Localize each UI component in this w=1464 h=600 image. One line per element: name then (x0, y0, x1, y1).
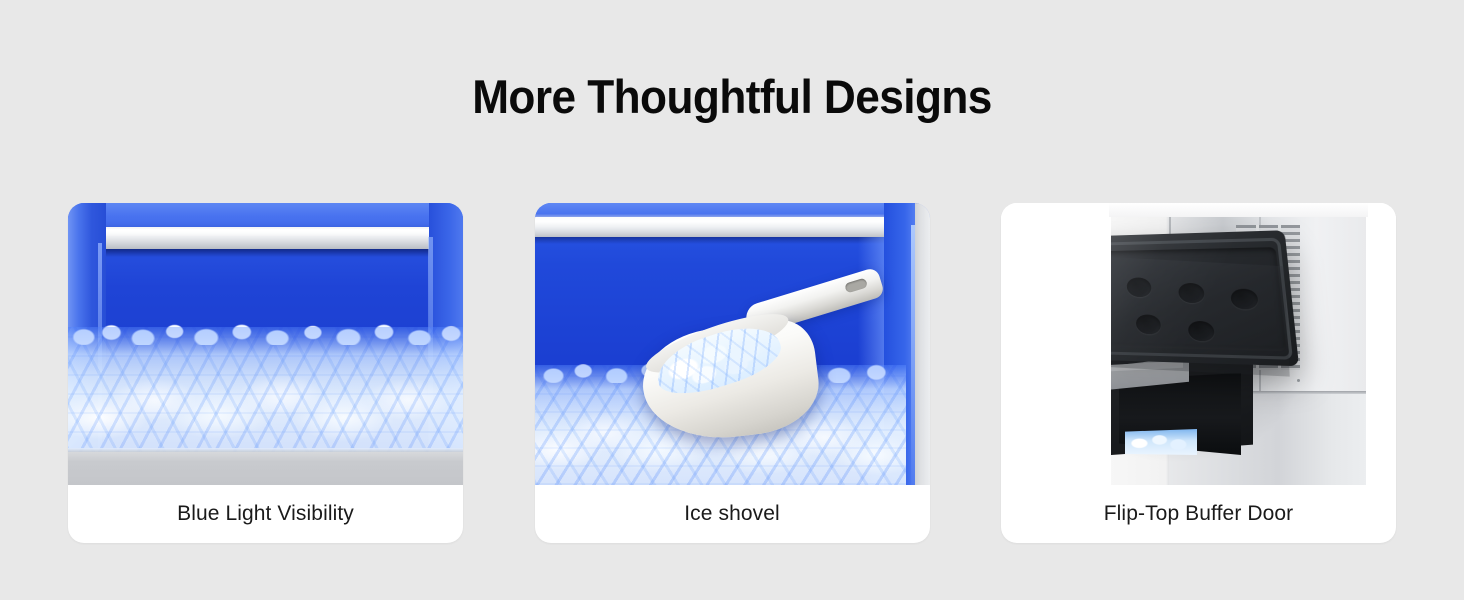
blue-light-visibility-image (68, 203, 463, 485)
ice-scoop-hanging-hole (844, 278, 868, 294)
ice-cube-facets (68, 327, 463, 452)
led-light-bar-shadow (535, 237, 898, 244)
feature-card-flip-top-buffer-door[interactable]: Flip-Top Buffer Door (1001, 203, 1396, 543)
feature-card-caption: Flip-Top Buffer Door (1001, 485, 1396, 543)
flip-top-buffer-door-illustration (1001, 203, 1396, 485)
ice-visible-through-opening (1125, 429, 1197, 455)
feature-card-caption: Ice shovel (535, 485, 930, 543)
led-light-bar (535, 217, 900, 237)
body-screw (1297, 379, 1300, 382)
ice-basket-blue-light-illustration (68, 203, 463, 485)
ice-shovel-image (535, 203, 930, 485)
feature-card-ice-shovel[interactable]: Ice shovel (535, 203, 930, 543)
photo-backdrop-top (1109, 203, 1368, 217)
led-light-bar (76, 227, 455, 249)
ice-shovel-illustration (535, 203, 930, 485)
ice-cube-top-row (68, 319, 463, 345)
feature-cards-row: Blue Light Visibility (68, 203, 1396, 543)
led-light-bar-highlight (76, 229, 455, 236)
ice-scoop (643, 299, 883, 439)
led-light-bar-shadow (76, 249, 455, 257)
flip-top-buffer-door-image (1001, 203, 1396, 485)
photo-backdrop-right (1366, 203, 1396, 485)
ice-scoop-bowl (636, 317, 823, 448)
ice-cube-bed (68, 327, 463, 452)
page-title: More Thoughtful Designs (44, 68, 1420, 126)
cabinet-edge-right (915, 203, 930, 485)
flip-top-lid[interactable] (1080, 230, 1299, 366)
feature-card-blue-light-visibility[interactable]: Blue Light Visibility (68, 203, 463, 543)
basket-base-strip (68, 452, 463, 485)
photo-backdrop-left (1001, 203, 1111, 485)
basket-wall-right-edge (911, 225, 915, 485)
feature-card-caption: Blue Light Visibility (68, 485, 463, 543)
